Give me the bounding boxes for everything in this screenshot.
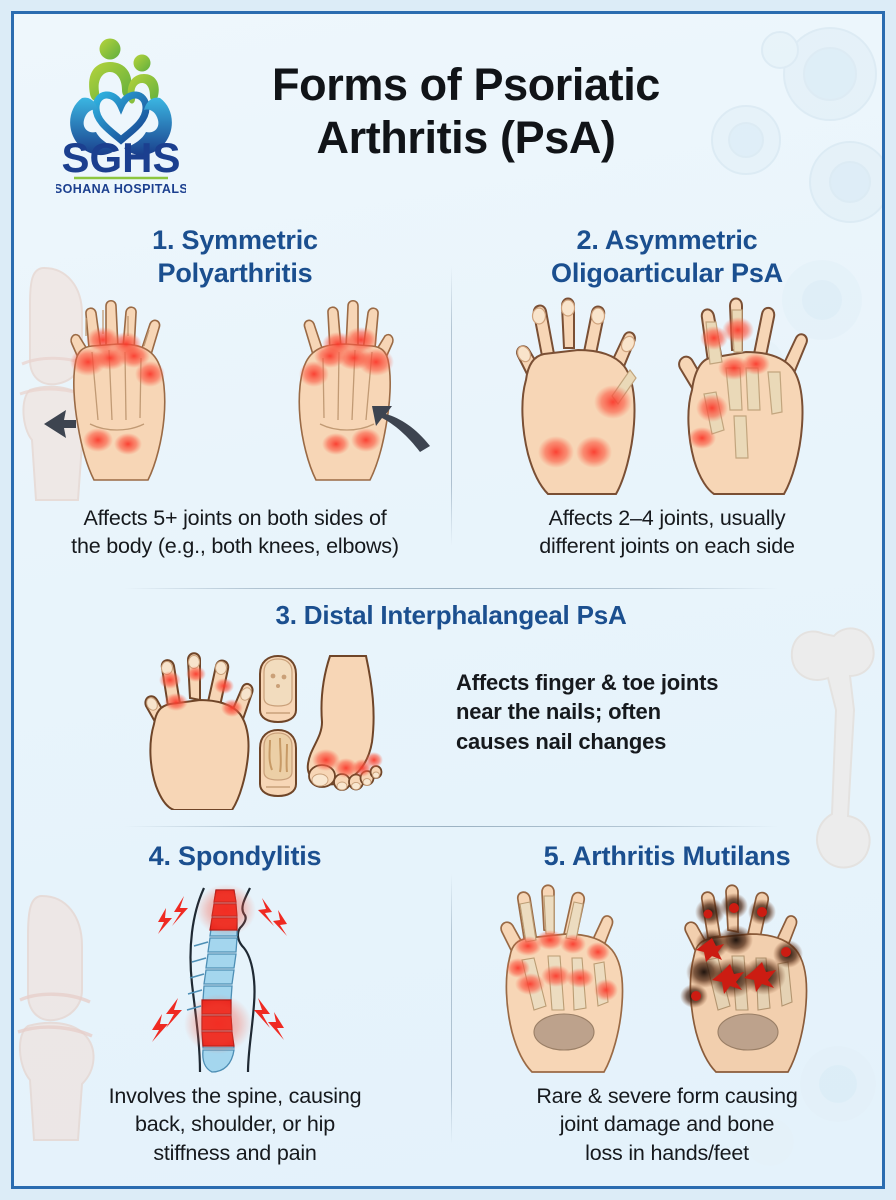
foot-left xyxy=(308,656,383,790)
nail-closeup-onycholysis xyxy=(260,730,296,796)
illustration-hand-nails-feet xyxy=(144,652,444,810)
section-4-caption: Involves the spine, causing back, should… xyxy=(26,1082,444,1167)
section-1-heading: 1. Symmetric Polyarthritis xyxy=(26,218,444,290)
section-5-heading-line1: 5. Arthritis Mutilans xyxy=(458,840,876,873)
logo-subtitle: SOHANA HOSPITALS xyxy=(56,182,186,196)
section-1-heading-line2: Polyarthritis xyxy=(26,257,444,290)
illustration-spine-spondylitis xyxy=(144,884,354,1074)
section-4-heading: 4. Spondylitis xyxy=(26,836,444,873)
section-3-caption-line3: causes nail changes xyxy=(456,727,806,756)
section-3-caption-line2: near the nails; often xyxy=(456,697,806,726)
section-1-heading-line1: 1. Symmetric xyxy=(26,224,444,257)
section-5-caption-line3: loss in hands/feet xyxy=(458,1139,876,1167)
page-title-line1: Forms of Psoriatic xyxy=(186,58,746,111)
section-5-caption-line2: joint damage and bone xyxy=(458,1110,876,1138)
illustration-hands-mutilans xyxy=(486,884,846,1076)
section-2-heading-line1: 2. Asymmetric xyxy=(458,224,876,257)
section-3-caption: Affects finger & toe joints near the nai… xyxy=(456,668,806,756)
section-2-caption: Affects 2–4 joints, usually different jo… xyxy=(458,504,876,561)
section-asymmetric-oligoarticular: 2. Asymmetric Oligoarticular PsA xyxy=(458,218,876,578)
section-2-caption-line1: Affects 2–4 joints, usually xyxy=(458,504,876,532)
section-1-caption-line2: the body (e.g., both knees, elbows) xyxy=(26,532,444,560)
logo-acronym: SGHS xyxy=(61,134,180,181)
section-4-caption-line3: stiffness and pain xyxy=(26,1139,444,1167)
section-spondylitis: 4. Spondylitis xyxy=(26,836,444,1176)
section-distal-interphalangeal: 3. Distal Interphalangeal PsA xyxy=(26,600,876,820)
horizontal-divider-1 xyxy=(124,588,778,589)
section-4-caption-line2: back, shoulder, or hip xyxy=(26,1110,444,1138)
section-4-heading-line1: 4. Spondylitis xyxy=(26,840,444,873)
section-2-caption-line2: different joints on each side xyxy=(458,532,876,560)
section-5-caption-line1: Rare & severe form causing xyxy=(458,1082,876,1110)
section-3-heading: 3. Distal Interphalangeal PsA xyxy=(26,600,876,632)
section-3-caption-line1: Affects finger & toe joints xyxy=(456,668,806,697)
page-title-line2: Arthritis (PsA) xyxy=(186,111,746,164)
infographic-poster: SGHS SOHANA HOSPITALS Forms of Psoriatic… xyxy=(11,11,885,1189)
vertical-divider-top xyxy=(451,266,452,546)
pointer-arrow-left xyxy=(44,410,76,438)
nail-closeup-pitting xyxy=(260,656,296,722)
horizontal-divider-2 xyxy=(124,826,778,827)
section-5-heading: 5. Arthritis Mutilans xyxy=(458,836,876,873)
section-symmetric-polyarthritis: 1. Symmetric Polyarthritis xyxy=(26,218,444,578)
sghs-logo: SGHS SOHANA HOSPITALS xyxy=(56,36,186,198)
section-5-caption: Rare & severe form causing joint damage … xyxy=(458,1082,876,1167)
vertical-divider-bottom xyxy=(451,874,452,1144)
illustration-two-hands-symmetric xyxy=(42,296,432,496)
section-3-heading-line1: 3. Distal Interphalangeal PsA xyxy=(26,600,876,632)
section-4-caption-line1: Involves the spine, causing xyxy=(26,1082,444,1110)
section-1-caption: Affects 5+ joints on both sides of the b… xyxy=(26,504,444,561)
section-2-heading-line2: Oligoarticular PsA xyxy=(458,257,876,290)
poster-header: SGHS SOHANA HOSPITALS Forms of Psoriatic… xyxy=(14,14,882,210)
illustration-two-hands-asymmetric xyxy=(506,296,836,496)
section-2-heading: 2. Asymmetric Oligoarticular PsA xyxy=(458,218,876,290)
section-arthritis-mutilans: 5. Arthritis Mutilans xyxy=(458,836,876,1176)
page-title: Forms of Psoriatic Arthritis (PsA) xyxy=(186,58,746,164)
section-1-caption-line1: Affects 5+ joints on both sides of xyxy=(26,504,444,532)
